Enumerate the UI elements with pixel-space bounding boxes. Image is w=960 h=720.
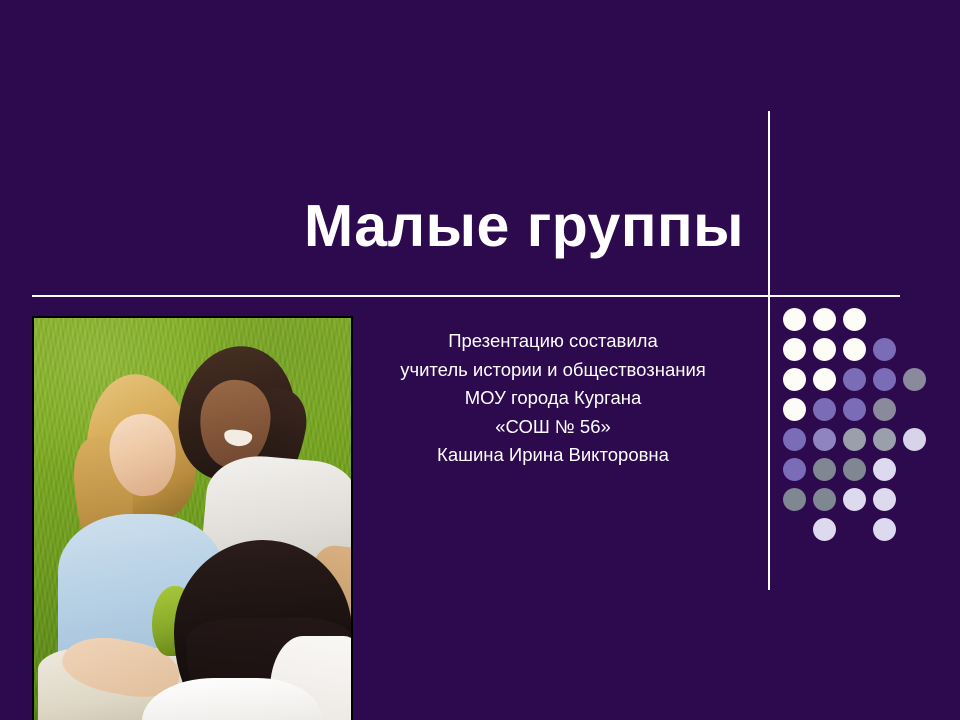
- subtitle-line-4: «СОШ № 56»: [363, 413, 743, 442]
- decorative-dot: [813, 488, 836, 511]
- decorative-dot: [873, 518, 896, 541]
- decorative-dot: [813, 458, 836, 481]
- slide-title: Малые группы: [120, 196, 744, 258]
- decorative-dot: [873, 338, 896, 361]
- decorative-dot: [783, 308, 806, 331]
- decorative-dot: [873, 428, 896, 451]
- decorative-dot: [813, 518, 836, 541]
- subtitle-line-2: учитель истории и обществознания: [363, 356, 743, 385]
- decorative-dot: [873, 458, 896, 481]
- decorative-dot: [813, 308, 836, 331]
- decorative-dot: [843, 488, 866, 511]
- decorative-dot: [843, 308, 866, 331]
- photo-content: [34, 318, 351, 720]
- decorative-dot: [843, 458, 866, 481]
- decorative-dot: [813, 368, 836, 391]
- decorative-dot: [873, 488, 896, 511]
- presentation-slide: Малые группы Презентацию составила учите…: [0, 0, 960, 720]
- decorative-dot: [903, 428, 926, 451]
- decorative-dot: [783, 368, 806, 391]
- decorative-dot: [843, 338, 866, 361]
- decorative-dot: [843, 398, 866, 421]
- subtitle-line-3: МОУ города Кургана: [363, 384, 743, 413]
- decorative-dot: [783, 398, 806, 421]
- decorative-dot: [783, 338, 806, 361]
- decorative-dot: [783, 488, 806, 511]
- decorative-dot: [813, 338, 836, 361]
- decorative-dot: [903, 368, 926, 391]
- decorative-dot: [783, 428, 806, 451]
- vertical-divider: [768, 111, 770, 590]
- decorative-dot: [813, 428, 836, 451]
- decorative-dot: [843, 428, 866, 451]
- decorative-dot-grid: [783, 308, 933, 558]
- subtitle-line-5: Кашина Ирина Викторовна: [363, 441, 743, 470]
- decorative-dot: [843, 368, 866, 391]
- decorative-dot: [813, 398, 836, 421]
- subtitle-line-1: Презентацию составила: [363, 327, 743, 356]
- decorative-dot: [783, 458, 806, 481]
- decorative-dot: [873, 398, 896, 421]
- title-photo: [32, 316, 353, 720]
- slide-subtitle: Презентацию составила учитель истории и …: [363, 327, 743, 470]
- decorative-dot: [873, 368, 896, 391]
